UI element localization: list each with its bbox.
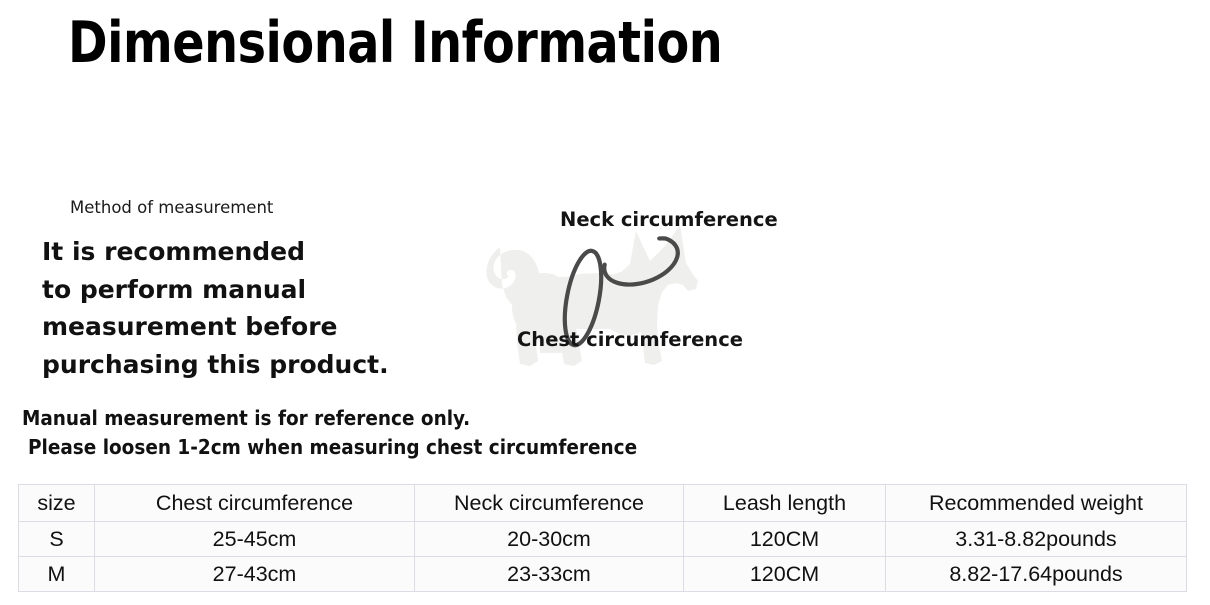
recommendation-line-4: purchasing this product. bbox=[42, 346, 402, 384]
column-header-neck: Neck circumference bbox=[415, 485, 684, 522]
recommendation-text: It is recommended to perform manual meas… bbox=[42, 233, 402, 383]
disclaimer-line-2: Please loosen 1-2cm when measuring chest… bbox=[22, 433, 637, 462]
cell-weight: 8.82-17.64pounds bbox=[886, 557, 1187, 592]
cell-size: S bbox=[19, 522, 95, 557]
measurement-diagram: Neck circumference Chest circumference bbox=[440, 185, 800, 390]
cell-chest: 25-45cm bbox=[95, 522, 415, 557]
recommendation-line-3: measurement before bbox=[42, 308, 402, 346]
size-chart-table: size Chest circumference Neck circumfere… bbox=[18, 484, 1187, 592]
page-title: Dimensional Information bbox=[68, 10, 722, 76]
column-header-chest: Chest circumference bbox=[95, 485, 415, 522]
cell-neck: 23-33cm bbox=[415, 557, 684, 592]
cell-leash: 120CM bbox=[684, 522, 886, 557]
table-header-row: size Chest circumference Neck circumfere… bbox=[19, 485, 1187, 522]
cell-neck: 20-30cm bbox=[415, 522, 684, 557]
neck-circumference-label: Neck circumference bbox=[560, 208, 778, 231]
recommendation-line-1: It is recommended bbox=[42, 233, 402, 271]
cell-leash: 120CM bbox=[684, 557, 886, 592]
recommendation-line-2: to perform manual bbox=[42, 271, 402, 309]
chest-circumference-label: Chest circumference bbox=[517, 328, 743, 351]
method-of-measurement-label: Method of measurement bbox=[70, 198, 273, 217]
cell-chest: 27-43cm bbox=[95, 557, 415, 592]
table-row: S 25-45cm 20-30cm 120CM 3.31-8.82pounds bbox=[19, 522, 1187, 557]
column-header-leash: Leash length bbox=[684, 485, 886, 522]
cell-size: M bbox=[19, 557, 95, 592]
disclaimer-line-1: Manual measurement is for reference only… bbox=[22, 404, 637, 433]
disclaimer-text: Manual measurement is for reference only… bbox=[22, 404, 637, 462]
cell-weight: 3.31-8.82pounds bbox=[886, 522, 1187, 557]
column-header-size: size bbox=[19, 485, 95, 522]
table-row: M 27-43cm 23-33cm 120CM 8.82-17.64pounds bbox=[19, 557, 1187, 592]
column-header-weight: Recommended weight bbox=[886, 485, 1187, 522]
